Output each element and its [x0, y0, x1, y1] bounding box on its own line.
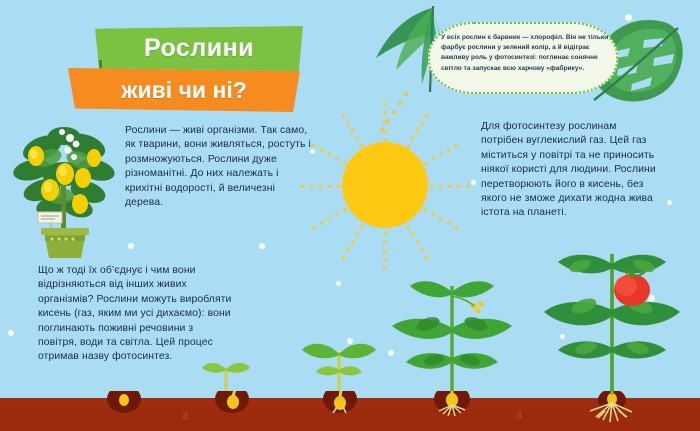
tomato-fruit: [614, 268, 650, 306]
potted-lemon-tree-illustration: [12, 112, 118, 260]
growth-stage-fruiting-plant: [540, 248, 690, 400]
decorative-dot: [667, 200, 672, 205]
sun-illustration: [300, 100, 470, 270]
callout-text: У всіх рослин є барвник — хлорофіл. Він …: [441, 33, 611, 74]
seed-germination-row: [0, 391, 700, 431]
paragraph-plants-are-living: Рослини — живі організми. Так само, як т…: [125, 124, 315, 210]
decorative-dot: [259, 243, 265, 249]
page-title-line2: живі чи ні?: [121, 77, 247, 104]
book-page-spread: У всіх рослин є барвник — хлорофіл. Він …: [0, 0, 700, 431]
page-title-line1: Рослини: [144, 34, 254, 63]
title-banner-orange: живі чи ні?: [68, 68, 300, 112]
decorative-dot: [128, 243, 134, 249]
paragraph-carbon-dioxide: Для фотосинтезу рослинам потрібен вуглек…: [481, 120, 657, 221]
sun-core: [342, 142, 428, 228]
decorative-dot: [8, 330, 14, 336]
decorative-dot: [471, 180, 476, 185]
paragraph-photosynthesis: Що ж тоді їх об’єднує і чим вони відрізн…: [38, 264, 234, 365]
title-banner-green: Рослини: [95, 26, 303, 71]
growth-stage-flowering-plant: [384, 272, 520, 400]
decorative-dot: [336, 281, 341, 286]
chlorophyll-callout-bubble: У всіх рослин є барвник — хлорофіл. Він …: [428, 22, 618, 94]
